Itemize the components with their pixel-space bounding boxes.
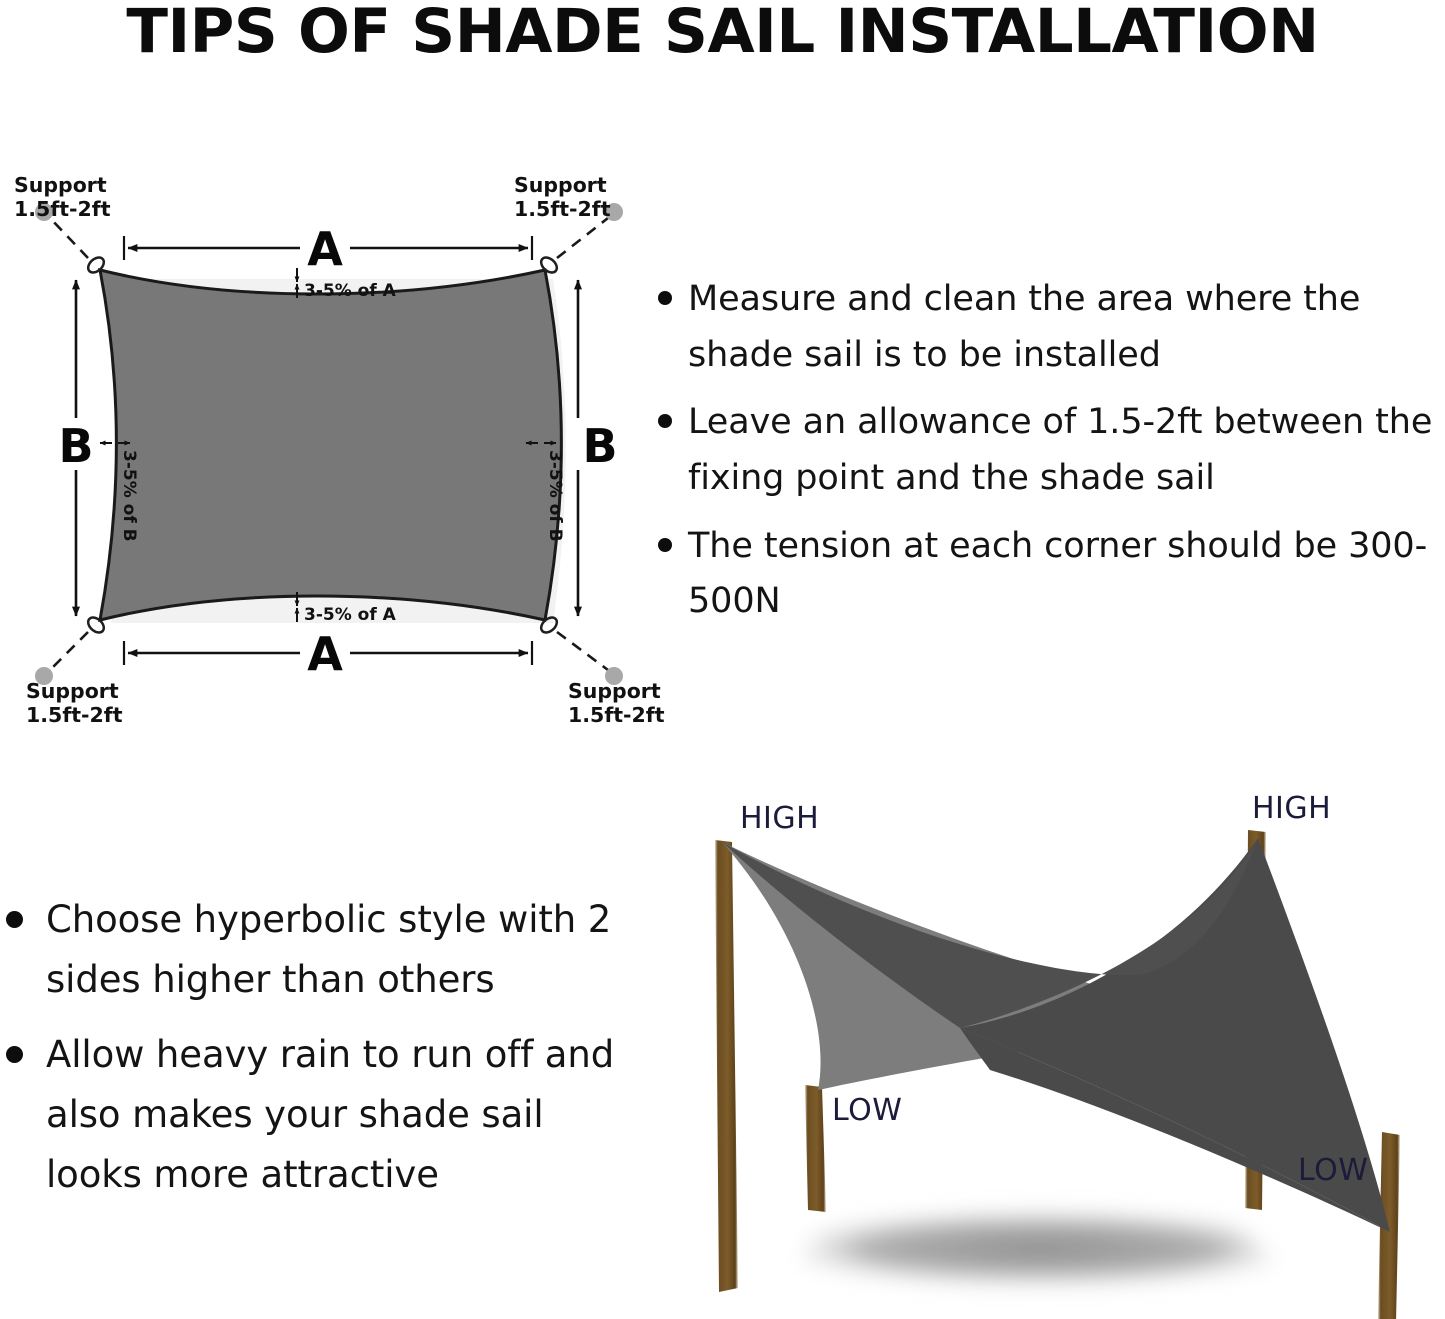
dimension-letter-b-left: B — [58, 419, 93, 473]
installation-tips-list-bottom: Choose hyperbolic style with 2 sides hig… — [0, 890, 620, 1220]
dimension-letter-a-bottom: A — [307, 627, 343, 681]
list-item: Measure and clean the area where the sha… — [650, 272, 1445, 383]
bullet-dot-icon — [658, 538, 672, 552]
post-low-left — [805, 1085, 826, 1212]
page-title: TIPS OF SHADE SAIL INSTALLATION — [0, 0, 1445, 67]
label-high-right: HIGH — [1252, 791, 1331, 826]
dimension-letter-b-right: B — [582, 419, 617, 473]
sail-body — [100, 270, 562, 620]
support-bottom-right-line2: 1.5ft-2ft — [568, 703, 665, 727]
support-top-right-line1: Support — [514, 173, 607, 197]
rectangular-sail-diagram: Support 1.5ft-2ft Support 1.5ft-2ft Supp… — [0, 170, 660, 730]
support-label-top-left: Support 1.5ft-2ft — [14, 173, 111, 221]
bullet-dot-icon — [658, 414, 672, 428]
bullet-dot-icon — [6, 1046, 23, 1063]
label-low-left: LOW — [832, 1093, 902, 1128]
support-bottom-left-line2: 1.5ft-2ft — [26, 703, 123, 727]
ground-shadow — [780, 1212, 1300, 1285]
support-label-top-right: Support 1.5ft-2ft — [514, 173, 611, 221]
bullet-dot-icon — [658, 291, 672, 305]
bullet-text: The tension at each corner should be 300… — [688, 519, 1445, 630]
support-top-left-line1: Support — [14, 173, 107, 197]
support-bottom-right-line1: Support — [568, 679, 661, 703]
list-item: The tension at each corner should be 300… — [650, 519, 1445, 630]
bullet-text: Leave an allowance of 1.5-2ft between th… — [688, 395, 1445, 506]
support-top-left-line2: 1.5ft-2ft — [14, 197, 111, 221]
support-top-right-line2: 1.5ft-2ft — [514, 197, 611, 221]
rect-diagram-svg: Support 1.5ft-2ft Support 1.5ft-2ft Supp… — [0, 170, 660, 730]
top-bullets: Measure and clean the area where the sha… — [650, 272, 1445, 630]
support-label-bottom-right: Support 1.5ft-2ft — [568, 679, 665, 727]
bullet-text: Allow heavy rain to run off and also mak… — [46, 1025, 620, 1206]
bullet-text: Measure and clean the area where the sha… — [688, 272, 1445, 383]
curvature-label-left: 3-5% of B — [119, 450, 139, 542]
label-high-left: HIGH — [740, 801, 819, 836]
curvature-label-right: 3-5% of B — [545, 450, 565, 542]
post-back-left — [715, 840, 738, 1292]
list-item: Leave an allowance of 1.5-2ft between th… — [650, 395, 1445, 506]
bullet-dot-icon — [6, 911, 23, 928]
support-bottom-left-line1: Support — [26, 679, 119, 703]
hyperbolic-diagram-svg: HIGH HIGH LOW LOW — [660, 780, 1445, 1319]
dimension-letter-a-top: A — [307, 222, 343, 276]
list-item: Allow heavy rain to run off and also mak… — [0, 1025, 620, 1206]
installation-tips-list-top: Measure and clean the area where the sha… — [650, 272, 1445, 672]
support-label-bottom-left: Support 1.5ft-2ft — [26, 679, 123, 727]
list-item: Choose hyperbolic style with 2 sides hig… — [0, 890, 620, 1011]
curvature-label-top: 3-5% of A — [304, 281, 397, 301]
bottom-bullets: Choose hyperbolic style with 2 sides hig… — [0, 890, 620, 1205]
hyperbolic-sail-diagram: HIGH HIGH LOW LOW — [660, 780, 1445, 1319]
curvature-label-bottom: 3-5% of A — [304, 605, 397, 625]
label-low-right: LOW — [1298, 1153, 1368, 1188]
bullet-text: Choose hyperbolic style with 2 sides hig… — [46, 890, 620, 1011]
